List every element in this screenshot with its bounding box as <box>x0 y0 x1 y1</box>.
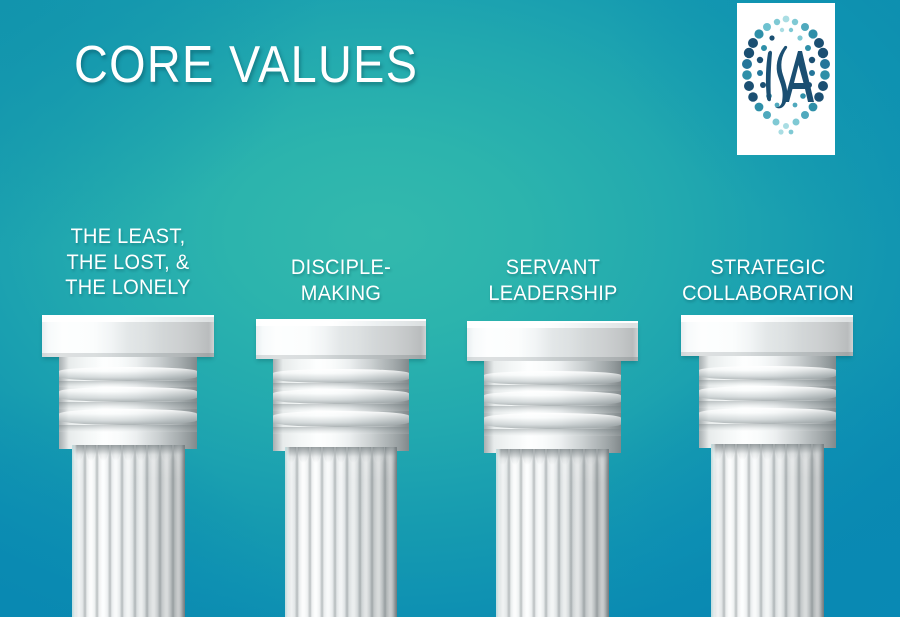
flute <box>347 447 359 617</box>
label-line: COLLABORATION <box>673 281 863 307</box>
annulet-ring <box>59 367 197 381</box>
label-line: STRATEGIC <box>673 255 863 281</box>
pillar-capital-abacus <box>467 321 638 361</box>
annulet-ring <box>699 408 836 424</box>
flute <box>584 449 597 617</box>
annulet-ring <box>484 413 621 429</box>
flute <box>546 449 559 617</box>
pillar-capital-neck <box>699 356 836 448</box>
pillar-capital-abacus <box>42 315 214 357</box>
flute <box>761 444 774 617</box>
logo-dot-ring <box>742 16 830 135</box>
pillar-shaft <box>496 449 609 617</box>
shaft-top-shadow <box>496 449 609 459</box>
shaft-highlight-edge <box>496 449 501 617</box>
label-line: THE LOST, & <box>33 250 223 276</box>
pillar-flutes <box>496 449 609 617</box>
flute <box>335 447 347 617</box>
flute <box>521 449 534 617</box>
flute <box>509 449 522 617</box>
slide-canvas: CORE VALUES <box>0 0 900 617</box>
pillar-label-least-lost-lonely: THE LEAST, THE LOST, & THE LONELY <box>33 224 223 301</box>
flute <box>749 444 762 617</box>
label-line: THE LEAST, <box>33 224 223 250</box>
pillar-label-strategic-collaboration: STRATEGIC COLLABORATION <box>673 255 863 306</box>
flute <box>110 445 123 617</box>
shaft-top-shadow <box>72 445 185 455</box>
flute <box>85 445 98 617</box>
label-line: DISCIPLE- <box>256 255 425 281</box>
shaft-shadow-edge <box>178 445 185 617</box>
annulet-groove <box>699 401 836 408</box>
shaft-highlight-edge <box>711 444 716 617</box>
flute <box>297 447 309 617</box>
pillar-flutes <box>285 447 397 617</box>
pillar-strategic-collaboration <box>681 315 853 617</box>
flute <box>135 445 148 617</box>
flute <box>310 447 322 617</box>
flute <box>774 444 787 617</box>
annulet-groove <box>273 427 409 434</box>
shaft-shadow-edge <box>390 447 397 617</box>
annulet-groove <box>484 406 621 413</box>
pillar-label-servant-leadership: SERVANT LEADERSHIP <box>467 255 640 306</box>
pillar-capital-abacus <box>681 315 853 356</box>
pillar-shaft <box>711 444 824 617</box>
annulet-groove <box>59 402 197 409</box>
flute <box>372 447 384 617</box>
flute <box>571 449 584 617</box>
pillar-capital-neck <box>484 361 621 453</box>
annulet-ring <box>484 391 621 406</box>
shaft-top-shadow <box>711 444 824 454</box>
pillar-least-lost-lonely <box>42 315 214 617</box>
flute <box>160 445 173 617</box>
shaft-shadow-edge <box>817 444 824 617</box>
flute <box>786 444 799 617</box>
pillar-disciple-making <box>256 319 426 617</box>
annulet-groove <box>484 429 621 436</box>
flute <box>534 449 547 617</box>
flute <box>322 447 334 617</box>
pillar-capital-neck <box>59 357 197 449</box>
isa-logo-mark <box>737 3 835 155</box>
label-line: SERVANT <box>467 255 640 281</box>
shaft-highlight-edge <box>72 445 77 617</box>
shaft-top-shadow <box>285 447 397 457</box>
shaft-shadow-edge <box>602 449 609 617</box>
flute <box>736 444 749 617</box>
flute <box>799 444 812 617</box>
annulet-groove <box>59 425 197 432</box>
pillar-flutes <box>711 444 824 617</box>
flute <box>97 445 110 617</box>
pillar-capital-neck <box>273 359 409 451</box>
annulet-groove <box>699 424 836 431</box>
page-title: CORE VALUES <box>74 36 418 94</box>
annulet-ring <box>273 369 409 383</box>
annulet-ring <box>484 371 621 385</box>
pillar-shaft <box>72 445 185 617</box>
annulet-ring <box>699 366 836 380</box>
pillar-flutes <box>72 445 185 617</box>
flute <box>559 449 572 617</box>
label-line: THE LONELY <box>33 275 223 301</box>
pillar-servant-leadership <box>467 321 638 617</box>
annulet-ring <box>59 409 197 425</box>
logo-letters <box>766 46 814 108</box>
annulet-ring <box>273 411 409 427</box>
shaft-highlight-edge <box>285 447 290 617</box>
flute <box>147 445 160 617</box>
label-line: MAKING <box>256 281 425 307</box>
annulet-ring <box>273 389 409 404</box>
pillar-shaft <box>285 447 397 617</box>
pillar-capital-abacus <box>256 319 426 359</box>
flute <box>122 445 135 617</box>
annulet-groove <box>273 404 409 411</box>
annulet-ring <box>699 386 836 401</box>
isa-logo <box>737 3 835 155</box>
annulet-ring <box>59 387 197 402</box>
pillar-label-disciple-making: DISCIPLE- MAKING <box>256 255 425 306</box>
flute <box>724 444 737 617</box>
flute <box>360 447 372 617</box>
label-line: LEADERSHIP <box>467 281 640 307</box>
